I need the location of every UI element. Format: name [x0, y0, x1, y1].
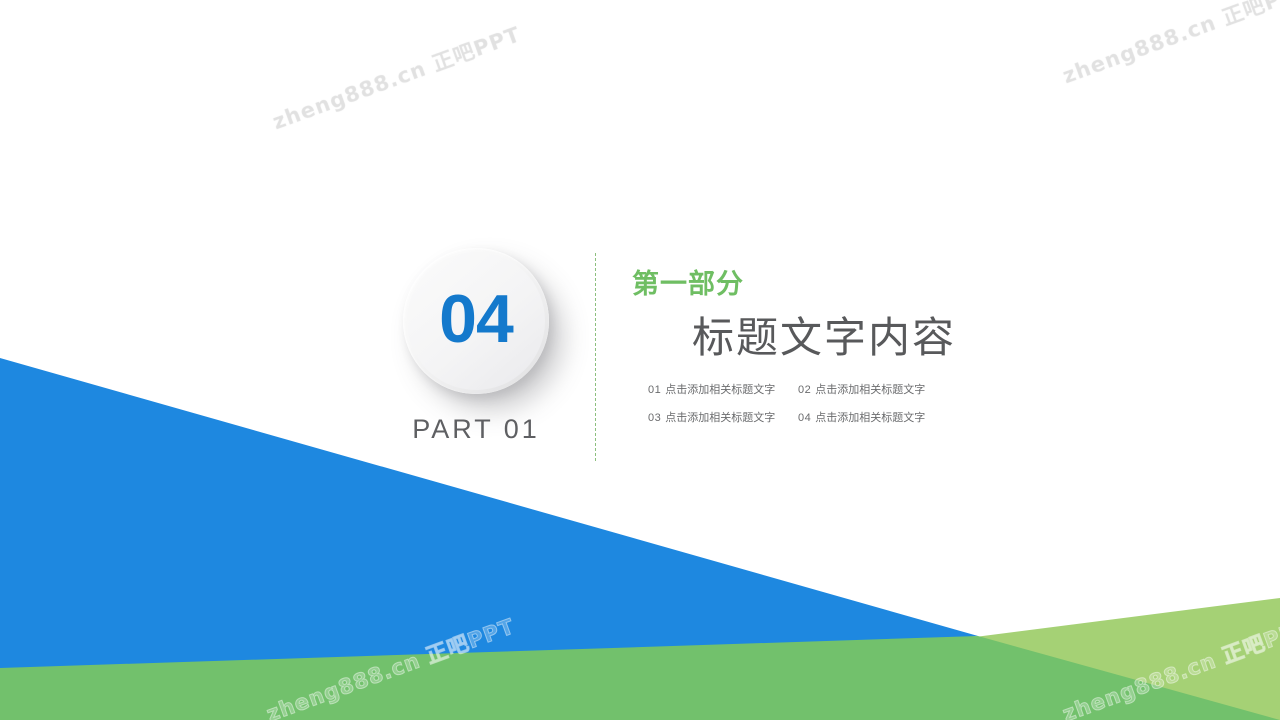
bullet-list: 01点击添加相关标题文字 02点击添加相关标题文字 03点击添加相关标题文字 0… [632, 383, 962, 425]
section-number-circle: 04 [403, 248, 549, 394]
list-item: 02点击添加相关标题文字 [798, 383, 948, 397]
list-item: 01点击添加相关标题文字 [648, 383, 798, 397]
bullet-label: 点击添加相关标题文字 [665, 411, 775, 424]
section-number: 04 [439, 285, 513, 357]
bullet-label: 点击添加相关标题文字 [815, 383, 925, 396]
list-item: 04点击添加相关标题文字 [798, 411, 948, 425]
bullet-number: 01 [648, 384, 661, 396]
section-badge-group: 04 PART 01 [372, 248, 580, 445]
bullet-label: 点击添加相关标题文字 [665, 383, 775, 396]
bullet-number: 02 [798, 384, 811, 396]
bullet-number: 04 [798, 412, 811, 424]
list-item: 03点击添加相关标题文字 [648, 411, 798, 425]
section-text-block: 第一部分 标题文字内容 01点击添加相关标题文字 02点击添加相关标题文字 03… [632, 268, 962, 425]
page-title: 标题文字内容 [632, 314, 962, 362]
vertical-dashed-divider [595, 253, 596, 461]
section-kicker: 第一部分 [632, 268, 962, 300]
slide-canvas: zheng888.cn 正吧PPT zheng888.cn 正吧PPT zhen… [0, 0, 1280, 720]
bullet-number: 03 [648, 412, 661, 424]
part-label: PART 01 [372, 414, 580, 445]
bullet-label: 点击添加相关标题文字 [815, 411, 925, 424]
